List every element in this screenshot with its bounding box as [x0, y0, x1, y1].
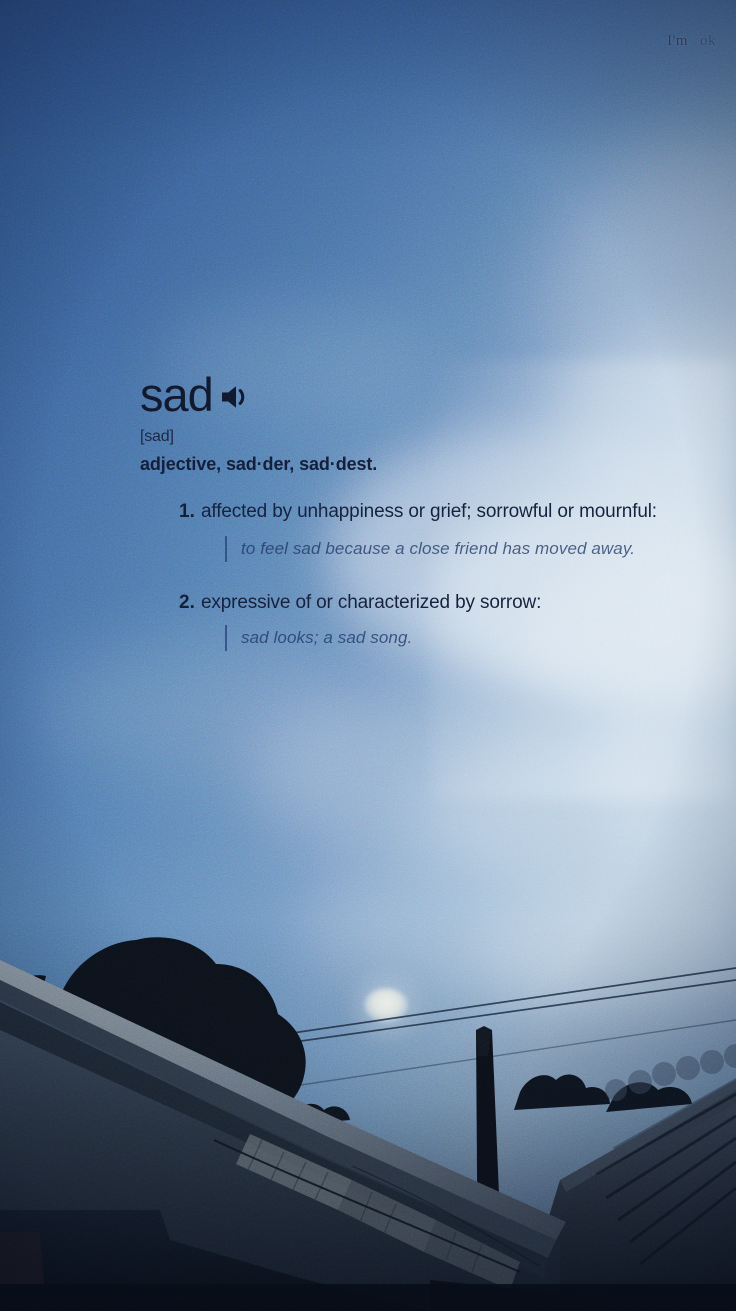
sense-body: affected by unhappiness or grief; sorrow…: [201, 499, 670, 562]
sense-number: 1.: [179, 499, 201, 562]
part-of-speech: adjective, sad·der, sad·dest.: [140, 454, 670, 475]
speaker-icon[interactable]: [219, 380, 253, 414]
headword-row: sad: [140, 372, 670, 417]
overlay-note: I'm ok: [566, 26, 716, 56]
sense-number: 2.: [179, 590, 201, 651]
sense-definition: affected by unhappiness or grief; sorrow…: [201, 499, 670, 524]
note-word-ok: ok: [700, 33, 716, 50]
sense-list: 1. affected by unhappiness or grief; sor…: [140, 499, 670, 651]
sense-definition: expressive of or characterized by sorrow…: [201, 590, 670, 615]
sense-example: sad looks; a sad song.: [225, 625, 670, 651]
headword-text: sad: [140, 372, 213, 417]
wallpaper-image: I'm ok sad [sad] adjective, sad·der, sad…: [0, 0, 736, 1311]
sense-body: expressive of or characterized by sorrow…: [201, 590, 670, 651]
foreground-skyline: [0, 880, 736, 1311]
note-word-im: I'm: [667, 33, 688, 50]
sense-example: to feel sad because a close friend has m…: [225, 536, 670, 562]
sense-item: 2. expressive of or characterized by sor…: [179, 590, 670, 651]
sense-item: 1. affected by unhappiness or grief; sor…: [179, 499, 670, 562]
pronunciation: [sad]: [140, 428, 670, 446]
dictionary-definition-overlay: sad [sad] adjective, sad·der, sad·dest. …: [140, 372, 670, 651]
